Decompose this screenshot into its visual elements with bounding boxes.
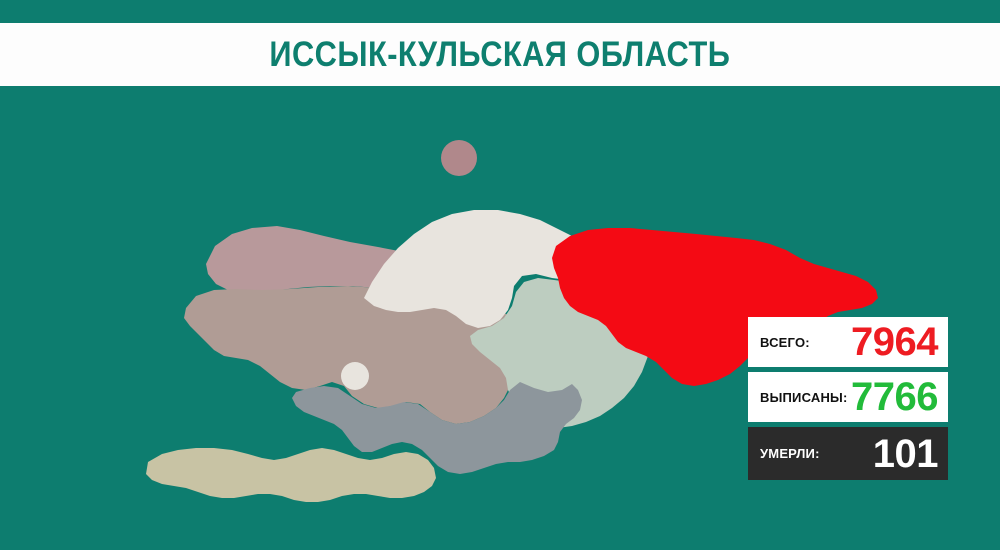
stats-panel: ВСЕГО: 7964 ВЫПИСАНЫ: 7766 УМЕРЛИ: 101	[748, 317, 948, 480]
map-region-batken[interactable]	[146, 448, 436, 502]
page-title: ИССЫК-КУЛЬСКАЯ ОБЛАСТЬ	[270, 35, 731, 75]
stat-label-total: ВСЕГО:	[760, 335, 810, 350]
city-marker-osh-city[interactable]	[341, 362, 369, 390]
stat-label-deaths: УМЕРЛИ:	[760, 446, 820, 461]
stat-row-total: ВСЕГО: 7964	[748, 317, 948, 367]
stat-value-deaths: 101	[873, 434, 938, 474]
infographic-root: ИССЫК-КУЛЬСКАЯ ОБЛАСТЬ ВСЕГО: 7	[0, 0, 1000, 550]
stat-label-recovered: ВЫПИСАНЫ:	[760, 390, 848, 405]
stat-value-recovered: 7766	[851, 377, 938, 417]
stat-row-deaths: УМЕРЛИ: 101	[748, 427, 948, 480]
stat-value-total: 7964	[851, 322, 938, 362]
stat-row-recovered: ВЫПИСАНЫ: 7766	[748, 372, 948, 422]
top-accent-bar	[0, 0, 1000, 23]
title-band: ИССЫК-КУЛЬСКАЯ ОБЛАСТЬ	[0, 23, 1000, 86]
city-marker-bishkek[interactable]	[441, 140, 477, 176]
